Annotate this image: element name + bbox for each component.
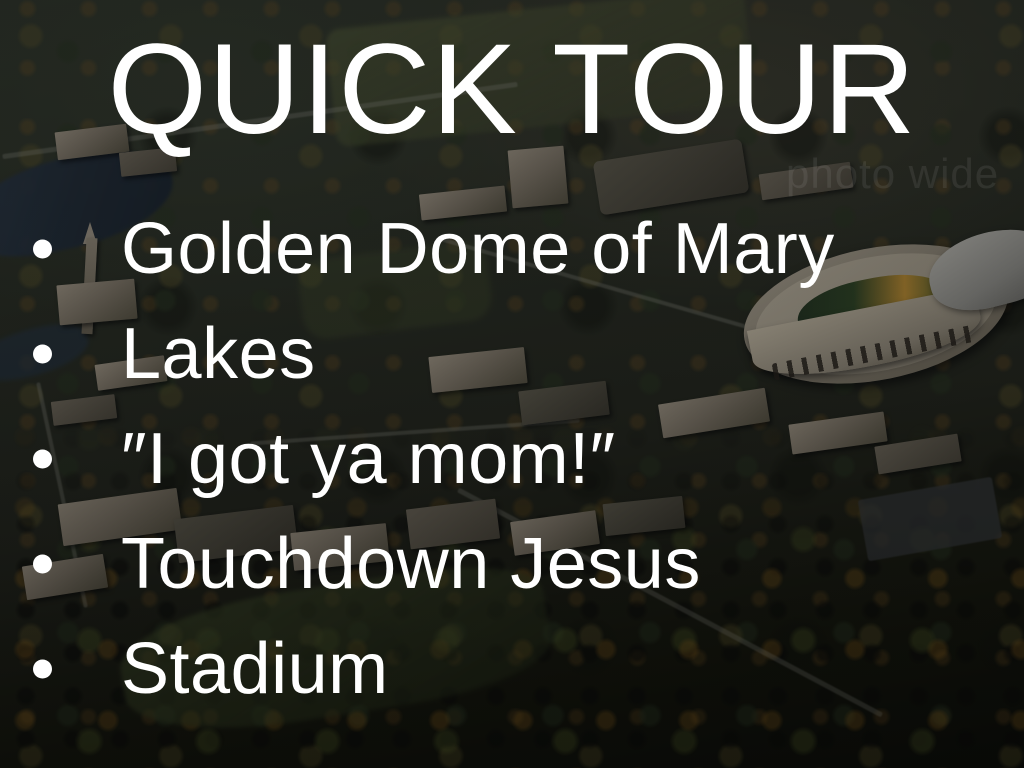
bullet-item-golden-dome: Golden Dome of Mary <box>0 196 1024 301</box>
bullet-label: Stadium <box>121 633 389 705</box>
bullet-label: ″I got ya mom!″ <box>121 423 616 495</box>
bullet-label: Touchdown Jesus <box>121 528 701 600</box>
bullet-label: Golden Dome of Mary <box>121 213 835 285</box>
presentation-slide: photo wide QUICK TOUR Golden Dome of Mar… <box>0 0 1024 768</box>
bullet-item-i-got-ya-mom: ″I got ya mom!″ <box>0 406 1024 511</box>
slide-title: QUICK TOUR <box>0 26 1024 154</box>
bullet-dot-icon <box>33 449 52 468</box>
bullet-item-stadium: Stadium <box>0 616 1024 721</box>
bullet-item-lakes: Lakes <box>0 301 1024 406</box>
bullet-dot-icon <box>33 344 52 363</box>
bullet-label: Lakes <box>121 318 316 390</box>
slide-content: QUICK TOUR Golden Dome of Mary Lakes ″I … <box>0 0 1024 768</box>
bullet-dot-icon <box>33 239 52 258</box>
bullet-dot-icon <box>33 554 52 573</box>
bullet-dot-icon <box>33 659 52 678</box>
bullet-list: Golden Dome of Mary Lakes ″I got ya mom!… <box>0 196 1024 721</box>
bullet-item-touchdown-jesus: Touchdown Jesus <box>0 511 1024 616</box>
